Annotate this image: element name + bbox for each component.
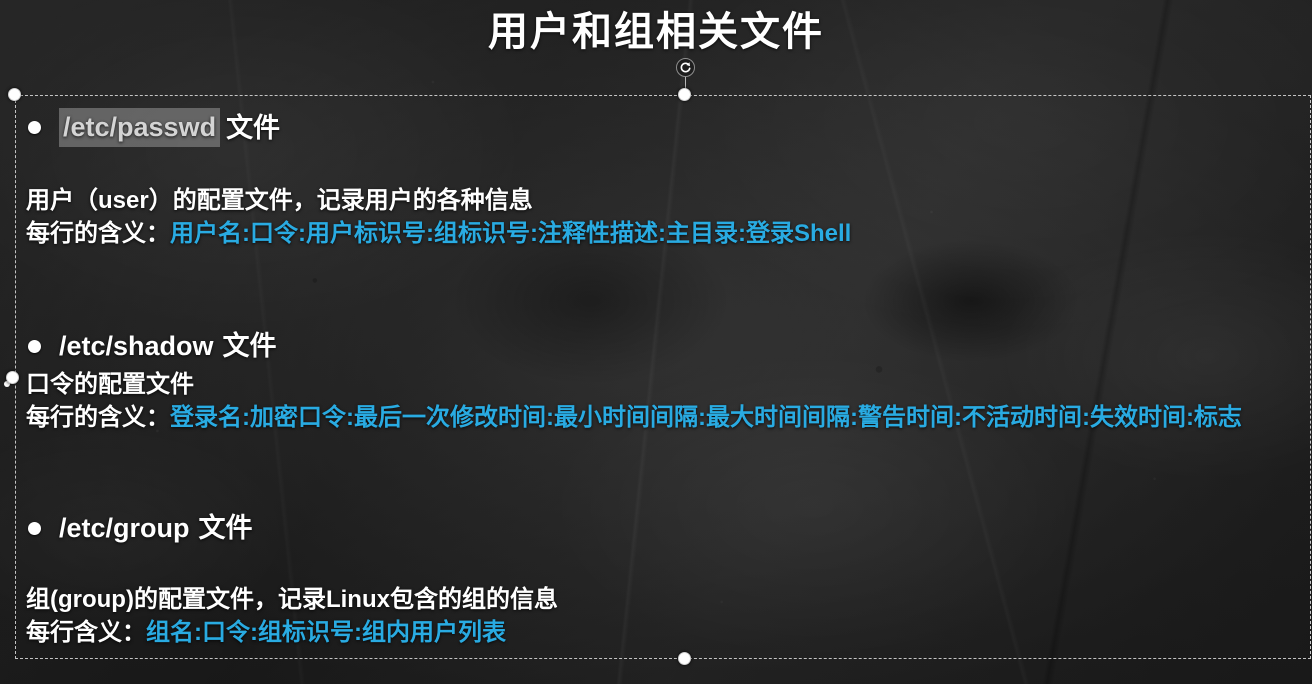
passwd-format-line: 每行的含义：用户名:口令:用户标识号:组标识号:注释性描述:主目录:登录Shel…	[16, 217, 1310, 250]
handle-bottom-center[interactable]	[678, 652, 691, 665]
path-suffix-passwd: 文件	[226, 111, 280, 145]
shadow-desc-text: 口令的配置文件	[26, 371, 194, 398]
path-label-shadow: /etc/shadow	[59, 329, 214, 363]
section-heading-shadow: /etc/shadow 文件	[16, 329, 1310, 363]
passwd-format-fields: 用户名:口令:用户标识号:组标识号:注释性描述:主目录:登录Shell	[170, 220, 851, 247]
filled-circle-bullet-icon	[28, 121, 41, 134]
section-heading-group: /etc/group 文件	[16, 511, 1310, 545]
handle-middle-left[interactable]	[6, 371, 19, 384]
filled-circle-bullet-icon	[28, 340, 41, 353]
section-shadow-body: 口令的配置文件 每行的含义：登录名:加密口令:最后一次修改时间:最小时间间隔:最…	[16, 368, 1310, 434]
shadow-desc-line: 口令的配置文件	[16, 368, 1310, 401]
passwd-desc-line: 用户（user）的配置文件，记录用户的各种信息	[16, 184, 1310, 217]
group-desc-line: 组(group)的配置文件，记录Linux包含的组的信息	[16, 583, 1310, 616]
section-heading-passwd: /etc/passwd 文件	[16, 108, 1310, 147]
shadow-format-line: 每行的含义：登录名:加密口令:最后一次修改时间:最小时间间隔:最大时间间隔:警告…	[16, 401, 1310, 434]
content-placeholder[interactable]: /etc/passwd 文件 用户（user）的配置文件，记录用户的各种信息 每…	[15, 95, 1311, 659]
section-passwd: /etc/passwd 文件	[16, 108, 1310, 147]
section-passwd-body: 用户（user）的配置文件，记录用户的各种信息 每行的含义：用户名:口令:用户标…	[16, 184, 1310, 250]
filled-circle-bullet-icon	[28, 522, 41, 535]
rotate-handle-icon[interactable]	[676, 58, 695, 77]
group-desc-text: 组(group)的配置文件，记录Linux包含的组的信息	[26, 586, 558, 613]
handle-top-left[interactable]	[8, 88, 21, 101]
path-suffix-group: 文件	[199, 511, 253, 545]
group-format-line: 每行含义：组名:口令:组标识号:组内用户列表	[16, 616, 1310, 649]
group-format-label: 每行含义：	[26, 619, 146, 646]
section-group-body: 组(group)的配置文件，记录Linux包含的组的信息 每行含义：组名:口令:…	[16, 583, 1310, 649]
content-body: /etc/passwd 文件 用户（user）的配置文件，记录用户的各种信息 每…	[16, 96, 1310, 658]
path-suffix-shadow: 文件	[223, 329, 277, 363]
passwd-format-label: 每行的含义：	[26, 220, 170, 247]
shadow-format-label: 每行的含义：	[26, 404, 170, 431]
slide-title: 用户和组相关文件	[0, 4, 1312, 60]
group-format-fields: 组名:口令:组标识号:组内用户列表	[146, 619, 506, 646]
shadow-format-fields: 登录名:加密口令:最后一次修改时间:最小时间间隔:最大时间间隔:警告时间:不活动…	[170, 404, 1242, 431]
path-label-group: /etc/group	[59, 511, 190, 545]
path-label-passwd: /etc/passwd	[59, 108, 220, 147]
handle-top-center[interactable]	[678, 88, 691, 101]
section-shadow: /etc/shadow 文件	[16, 329, 1310, 363]
presentation-slide: 用户和组相关文件 /etc/passwd 文件 用户（user）的配置文件，记录…	[0, 0, 1312, 684]
section-group: /etc/group 文件	[16, 511, 1310, 545]
passwd-desc-text: 用户（user）的配置文件，记录用户的各种信息	[26, 187, 533, 214]
